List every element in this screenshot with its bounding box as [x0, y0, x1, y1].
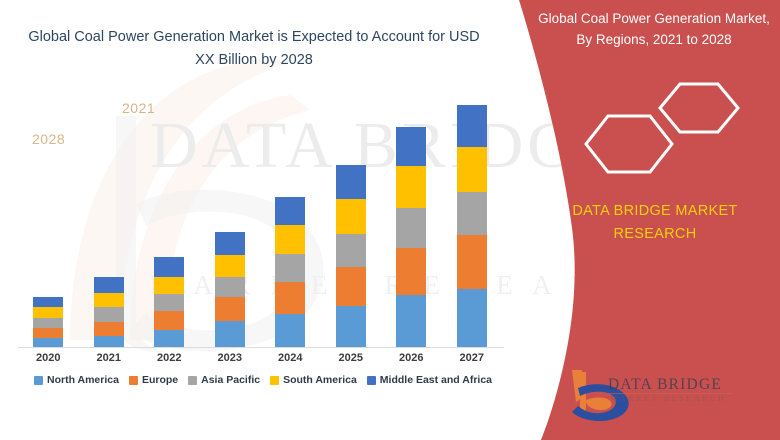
bar-segment-north-america: [457, 289, 487, 348]
bar-segment-south-america: [275, 225, 305, 254]
hexagon-2028-shape: [586, 116, 672, 172]
bar-segment-asia-pacific: [154, 294, 184, 311]
brand-line-2: RESEARCH: [614, 226, 697, 242]
legend-swatch: [367, 376, 376, 385]
bar-segment-south-america: [154, 277, 184, 294]
legend-label: Asia Pacific: [201, 374, 260, 386]
bar-segment-middle-east-and-africa: [457, 105, 487, 147]
legend-label: North America: [47, 374, 119, 386]
legend-label: Europe: [142, 374, 178, 386]
chart-legend: North AmericaEuropeAsia PacificSouth Ame…: [18, 374, 508, 386]
bar-2024: [275, 197, 305, 348]
bar-segment-middle-east-and-africa: [94, 277, 124, 292]
bar-segment-middle-east-and-africa: [215, 232, 245, 255]
bar-segment-middle-east-and-africa: [154, 257, 184, 276]
x-tick-2027: 2027: [448, 352, 496, 364]
bar-2027: [457, 105, 487, 348]
legend-item-europe[interactable]: Europe: [129, 374, 178, 386]
bar-segment-north-america: [215, 321, 245, 348]
bar-segment-europe: [275, 282, 305, 313]
chart-title: Global Coal Power Generation Market is E…: [28, 26, 480, 72]
legend-item-middle-east-and-africa[interactable]: Middle East and Africa: [367, 374, 492, 386]
hexagon-label-2021: 2021: [122, 100, 155, 116]
x-tick-2022: 2022: [145, 352, 193, 364]
bar-segment-asia-pacific: [94, 307, 124, 322]
infographic-canvas: DATA BRIDGE M A R K E T R E S E A R C H …: [0, 0, 780, 440]
legend-item-south-america[interactable]: South America: [270, 374, 357, 386]
bar-segment-asia-pacific: [336, 234, 366, 267]
legend-item-asia-pacific[interactable]: Asia Pacific: [188, 374, 260, 386]
bar-2025: [336, 165, 366, 348]
bar-segment-europe: [336, 267, 366, 306]
hexagon-pair-graphic: [560, 82, 760, 174]
bar-segment-middle-east-and-africa: [336, 165, 366, 199]
dbmr-logo: DATA BRIDGE MARKET RESEARCH: [556, 368, 756, 424]
x-tick-2025: 2025: [327, 352, 375, 364]
brand-name-block: DATA BRIDGE MARKET RESEARCH: [540, 200, 770, 246]
bar-segment-europe: [94, 322, 124, 335]
bar-segment-south-america: [396, 166, 426, 208]
bar-segment-south-america: [33, 307, 63, 317]
legend-item-north-america[interactable]: North America: [34, 374, 119, 386]
x-tick-2026: 2026: [387, 352, 435, 364]
bar-2026: [396, 127, 426, 348]
bar-segment-south-america: [215, 255, 245, 278]
bar-segment-south-america: [94, 293, 124, 307]
logo-name: DATA BRIDGE: [608, 376, 722, 394]
bar-segment-europe: [457, 235, 487, 288]
logo-tagline: MARKET RESEARCH: [610, 394, 726, 403]
x-tick-2021: 2021: [85, 352, 133, 364]
bar-segment-europe: [33, 328, 63, 338]
bar-2022: [154, 257, 184, 348]
bar-segment-middle-east-and-africa: [396, 127, 426, 166]
legend-swatch: [188, 376, 197, 385]
hexagon-label-2028: 2028: [32, 131, 65, 147]
legend-swatch: [129, 376, 138, 385]
bar-segment-europe: [215, 297, 245, 322]
bar-segment-middle-east-and-africa: [33, 297, 63, 307]
hexagon-2021-shape: [660, 84, 738, 132]
bar-segment-north-america: [154, 330, 184, 348]
x-tick-2023: 2023: [206, 352, 254, 364]
bar-segment-europe: [396, 248, 426, 295]
bar-segment-europe: [154, 311, 184, 330]
bar-2021: [94, 277, 124, 348]
bar-2023: [215, 232, 245, 348]
bar-chart-plot-area: [18, 100, 502, 348]
x-axis-line: [18, 347, 504, 348]
bar-segment-north-america: [275, 314, 305, 348]
bar-segment-asia-pacific: [275, 254, 305, 283]
bar-segment-asia-pacific: [215, 277, 245, 296]
bar-segment-north-america: [396, 295, 426, 348]
brand-line-1: DATA BRIDGE MARKET: [572, 203, 737, 219]
x-axis-tick-labels: 20202021202220232024202520262027: [18, 352, 504, 370]
x-tick-2024: 2024: [266, 352, 314, 364]
bar-segment-north-america: [336, 306, 366, 348]
legend-label: Middle East and Africa: [380, 374, 492, 386]
legend-swatch: [34, 376, 43, 385]
x-tick-2020: 2020: [24, 352, 72, 364]
bar-2020: [33, 297, 63, 349]
bar-segment-south-america: [336, 199, 366, 233]
bar-segment-asia-pacific: [396, 208, 426, 248]
right-panel-title: Global Coal Power Generation Market, By …: [534, 8, 774, 50]
bar-segment-south-america: [457, 147, 487, 192]
bar-segment-asia-pacific: [33, 318, 63, 328]
legend-swatch: [270, 376, 279, 385]
bar-segment-asia-pacific: [457, 192, 487, 236]
legend-label: South America: [283, 374, 357, 386]
bar-segment-middle-east-and-africa: [275, 197, 305, 225]
